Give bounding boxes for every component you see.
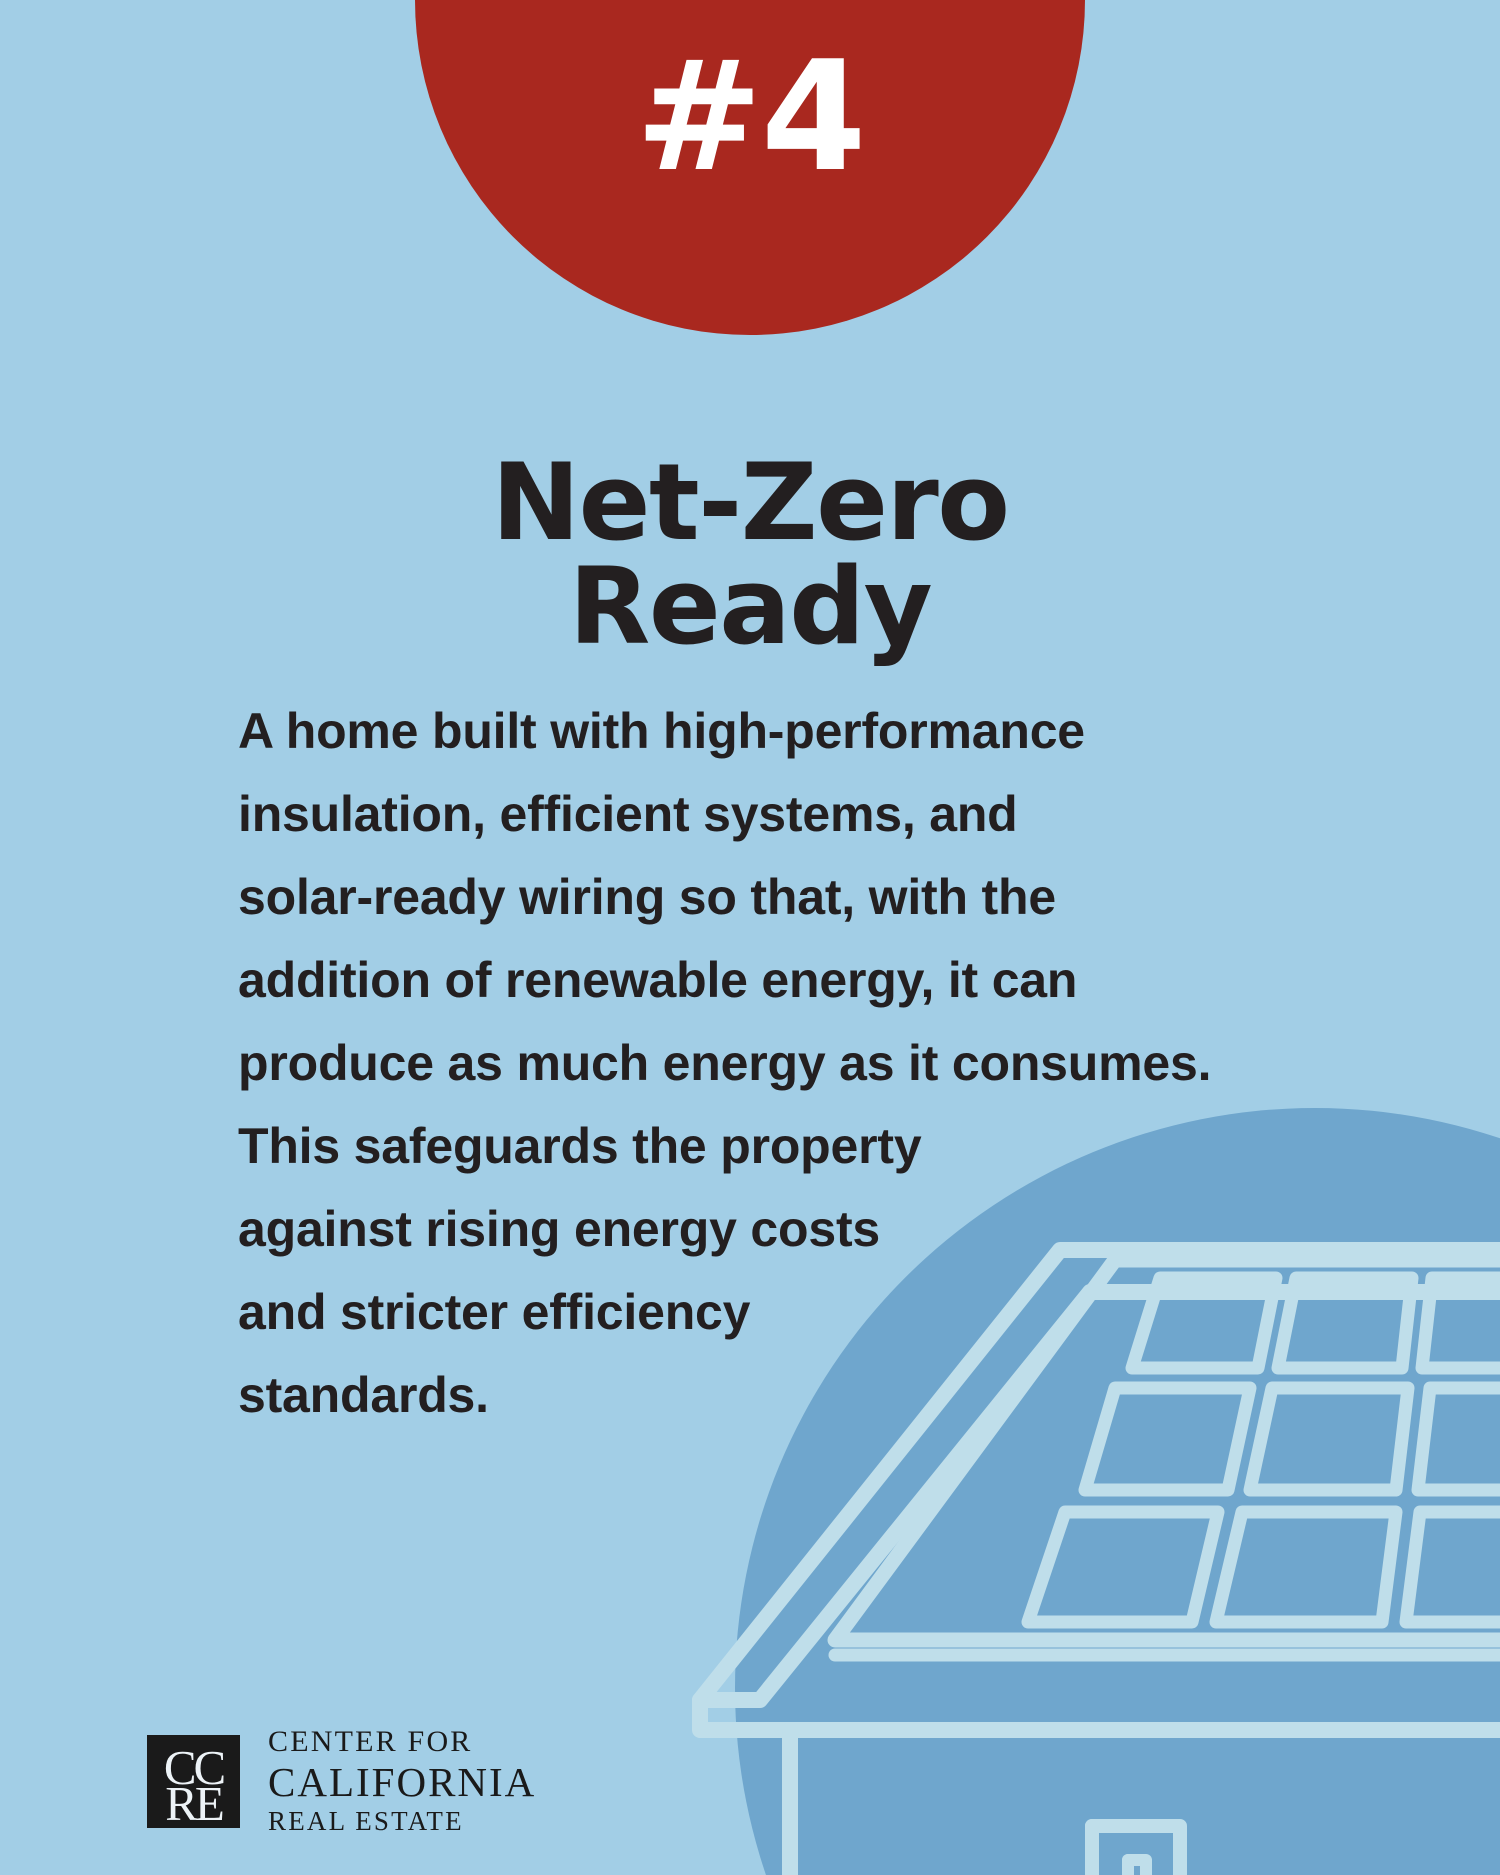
body-line: and stricter efficiency (238, 1271, 1298, 1354)
logo-line-california: CALIFORNIA (268, 1760, 536, 1805)
ccre-logo-mark: CC RE (147, 1735, 240, 1828)
body-line: insulation, efficient systems, and (238, 773, 1298, 856)
body-paragraph: A home built with high-performance insul… (238, 690, 1298, 1437)
body-line: against rising energy costs (238, 1188, 1298, 1271)
page-title-line-2: Ready (0, 555, 1500, 659)
page-title-line-1: Net-Zero (0, 451, 1500, 555)
logo-line-center-for: CENTER FOR (268, 1725, 536, 1760)
body-line: A home built with high-performance (238, 690, 1298, 773)
body-line: addition of renewable energy, it can (238, 939, 1298, 1022)
body-line: This safeguards the property (238, 1105, 1298, 1188)
logo-mark-bottom-letters: RE (147, 1779, 240, 1828)
logo-line-real-estate: REAL ESTATE (268, 1805, 536, 1837)
number-badge: #4 (415, 0, 1085, 335)
ccre-logo-wordmark: CENTER FOR CALIFORNIA REAL ESTATE (268, 1725, 536, 1837)
page-title: Net-Zero Ready (0, 451, 1500, 659)
poster-canvas: #4 Net-Zero Ready A home built with high… (0, 0, 1500, 1875)
body-line: standards. (238, 1354, 1298, 1437)
ccre-logo: CC RE CENTER FOR CALIFORNIA REAL ESTATE (147, 1725, 536, 1837)
body-line: produce as much energy as it consumes. (238, 1022, 1298, 1105)
badge-number-label: #4 (635, 41, 864, 335)
body-line: solar-ready wiring so that, with the (238, 856, 1298, 939)
